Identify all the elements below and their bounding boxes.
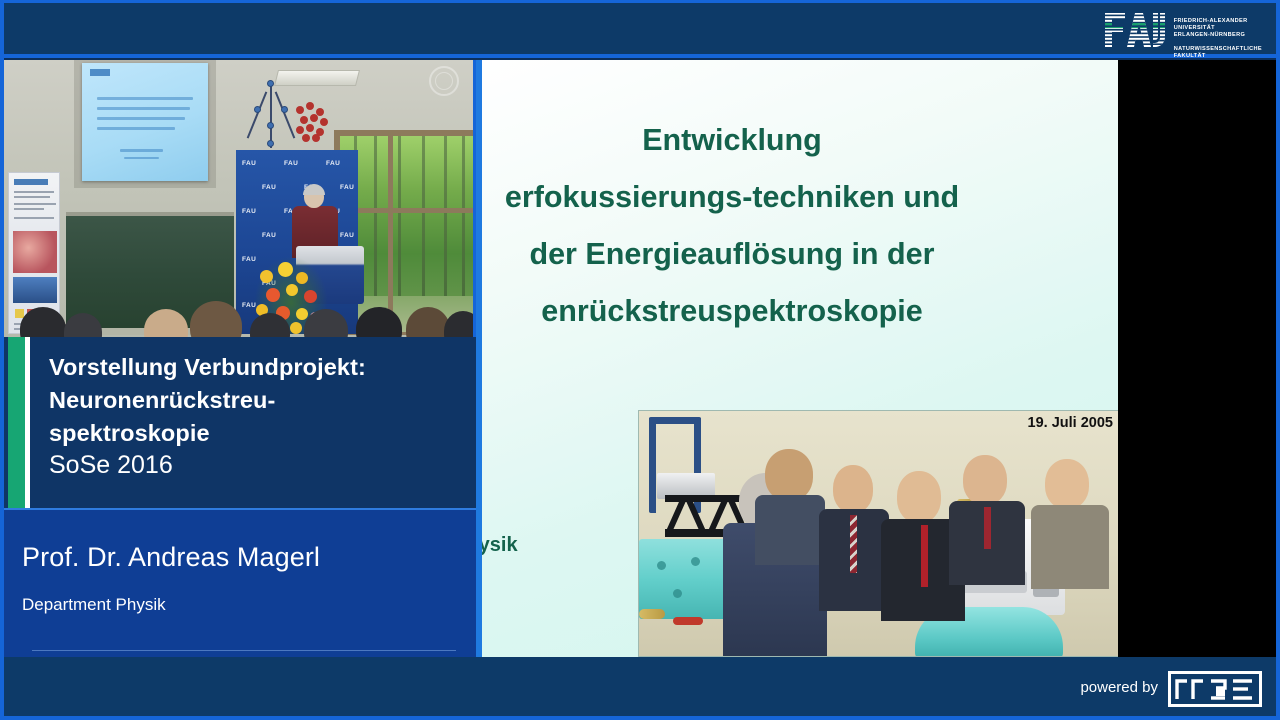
powered-by-label: powered by — [1080, 679, 1158, 696]
speaker-info-block: Prof. Dr. Andreas Magerl Department Phys… — [4, 508, 476, 657]
player-stage: FRIEDRICH-ALEXANDER UNIVERSITÄT ERLANGEN… — [0, 0, 1280, 720]
audience-row — [4, 275, 473, 337]
speaker-name: Prof. Dr. Andreas Magerl — [22, 542, 320, 573]
fau-line-4: NATURWISSENSCHAFTLICHE — [1174, 46, 1262, 53]
slide-title-line-4: enrückstreuspektroskopie — [482, 283, 1118, 340]
projection-screen — [82, 63, 208, 181]
speaker-department: Department Physik — [22, 595, 166, 615]
molecule-model — [250, 82, 292, 148]
video-frame-content: FAU FAU FAU FAU FAU FAU FAU FAU FAU FAU … — [4, 60, 473, 337]
semester-label: SoSe 2016 — [49, 450, 173, 480]
lecture-title: Vorstellung Verbundprojekt: Neuronenrück… — [49, 351, 464, 450]
slide-affiliation: Biophysik — [482, 534, 518, 557]
person-second-back — [755, 449, 825, 539]
slide-title: Entwicklung erfokussierungs-techniken un… — [482, 112, 1118, 340]
person-right-grey-suit — [1031, 459, 1109, 589]
photo-date-stamp: 19. Juli 2005 — [1028, 415, 1113, 431]
slide-title-line-1: Entwicklung — [482, 112, 1118, 169]
fau-line-5: FAKULTÄT — [1174, 53, 1262, 60]
red-molecule-model — [294, 102, 334, 142]
person-young-man — [819, 461, 889, 611]
rrze-logo-icon[interactable] — [1168, 671, 1262, 707]
slide-title-line-3: der Energieauflösung in der — [482, 226, 1118, 283]
projected-fau-logo-icon — [90, 69, 110, 76]
university-seal-icon — [429, 66, 459, 96]
fau-line-3: ERLANGEN-NÜRNBERG — [1174, 32, 1262, 39]
presentation-slide: Entwicklung erfokussierungs-techniken un… — [482, 60, 1118, 657]
sidebar-divider — [32, 650, 456, 651]
poster-logo-icon — [14, 179, 48, 185]
slide-title-line-2: erfokussierungs-techniken und — [482, 169, 1118, 226]
footer-bar: powered by — [0, 657, 1280, 720]
lecture-info-sidebar: Vorstellung Verbundprojekt: Neuronenrück… — [4, 337, 476, 657]
frame-edge-right — [1276, 58, 1280, 657]
speaker-video[interactable]: FAU FAU FAU FAU FAU FAU FAU FAU FAU FAU … — [4, 60, 476, 337]
accent-bar — [8, 337, 30, 508]
lecture-title-line-1: Vorstellung Verbundprojekt: — [49, 351, 464, 384]
lecture-title-block: Vorstellung Verbundprojekt: Neuronenrück… — [4, 337, 476, 508]
fau-logo-wordmark: FRIEDRICH-ALEXANDER UNIVERSITÄT ERLANGEN… — [1174, 10, 1262, 60]
fau-mark-icon — [1103, 10, 1165, 50]
lecture-title-line-2: Neuronenrückstreu- — [49, 384, 464, 417]
person-moustache — [949, 455, 1025, 585]
fau-logo: FRIEDRICH-ALEXANDER UNIVERSITÄT ERLANGEN… — [1103, 10, 1262, 60]
slide-pane[interactable]: Entwicklung erfokussierungs-techniken un… — [476, 60, 1276, 657]
header-bar: FRIEDRICH-ALEXANDER UNIVERSITÄT ERLANGEN… — [0, 0, 1280, 58]
lecture-title-line-3: spektroskopie — [49, 417, 464, 450]
slide-photograph: 19. Juli 2005 — [638, 410, 1118, 657]
poster-image — [13, 231, 57, 273]
